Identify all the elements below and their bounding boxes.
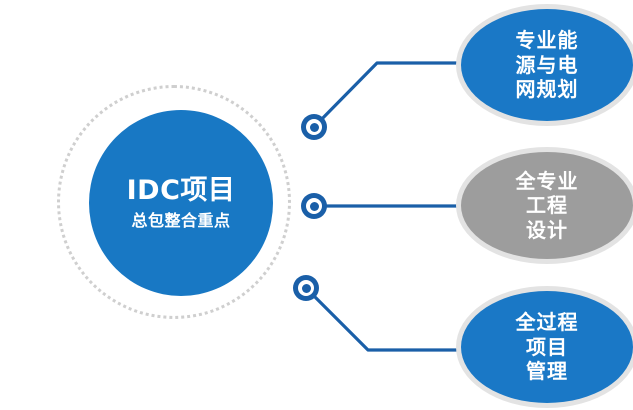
node-full-discipline-engineering-design[interactable]: 全专业 工程 设计	[461, 152, 633, 259]
node-1-line-2: 源与电	[516, 53, 579, 77]
connector-dot-middle-ring	[306, 198, 322, 214]
connector-line-top	[314, 63, 470, 127]
node-professional-energy-grid-planning[interactable]: 专业能 源与电 网规划	[461, 9, 633, 121]
diagram-canvas: IDC项目 总包整合重点 专业能 源与电 网规划 全专业 工程 设计 全过程 项…	[0, 0, 633, 410]
hub-title: IDC项目	[127, 175, 236, 206]
node-2-line-1: 全专业	[516, 169, 579, 193]
node-1-line-3: 网规划	[516, 77, 579, 101]
connector-dot-top[interactable]	[301, 114, 327, 140]
hub-subtitle: 总包整合重点	[131, 211, 230, 230]
connector-dot-middle[interactable]	[301, 193, 327, 219]
connector-dot-top-core	[310, 123, 319, 132]
node-3-line-3: 管理	[526, 359, 568, 383]
node-2-line-3: 设计	[526, 218, 568, 242]
node-3-line-1: 全过程	[516, 310, 579, 334]
connector-dot-bottom-ring	[298, 280, 314, 296]
connector-dot-bottom-core	[302, 284, 311, 293]
hub-circle[interactable]: IDC项目 总包整合重点	[89, 110, 273, 296]
node-1-line-1: 专业能	[516, 28, 579, 52]
node-whole-process-project-management[interactable]: 全过程 项目 管理	[461, 291, 633, 403]
connector-line-bottom	[306, 288, 470, 350]
connector-dot-middle-core	[310, 202, 319, 211]
connector-dot-bottom[interactable]	[293, 275, 319, 301]
node-3-line-2: 项目	[526, 335, 568, 359]
node-2-line-2: 工程	[526, 193, 568, 217]
connector-dot-top-ring	[306, 119, 322, 135]
